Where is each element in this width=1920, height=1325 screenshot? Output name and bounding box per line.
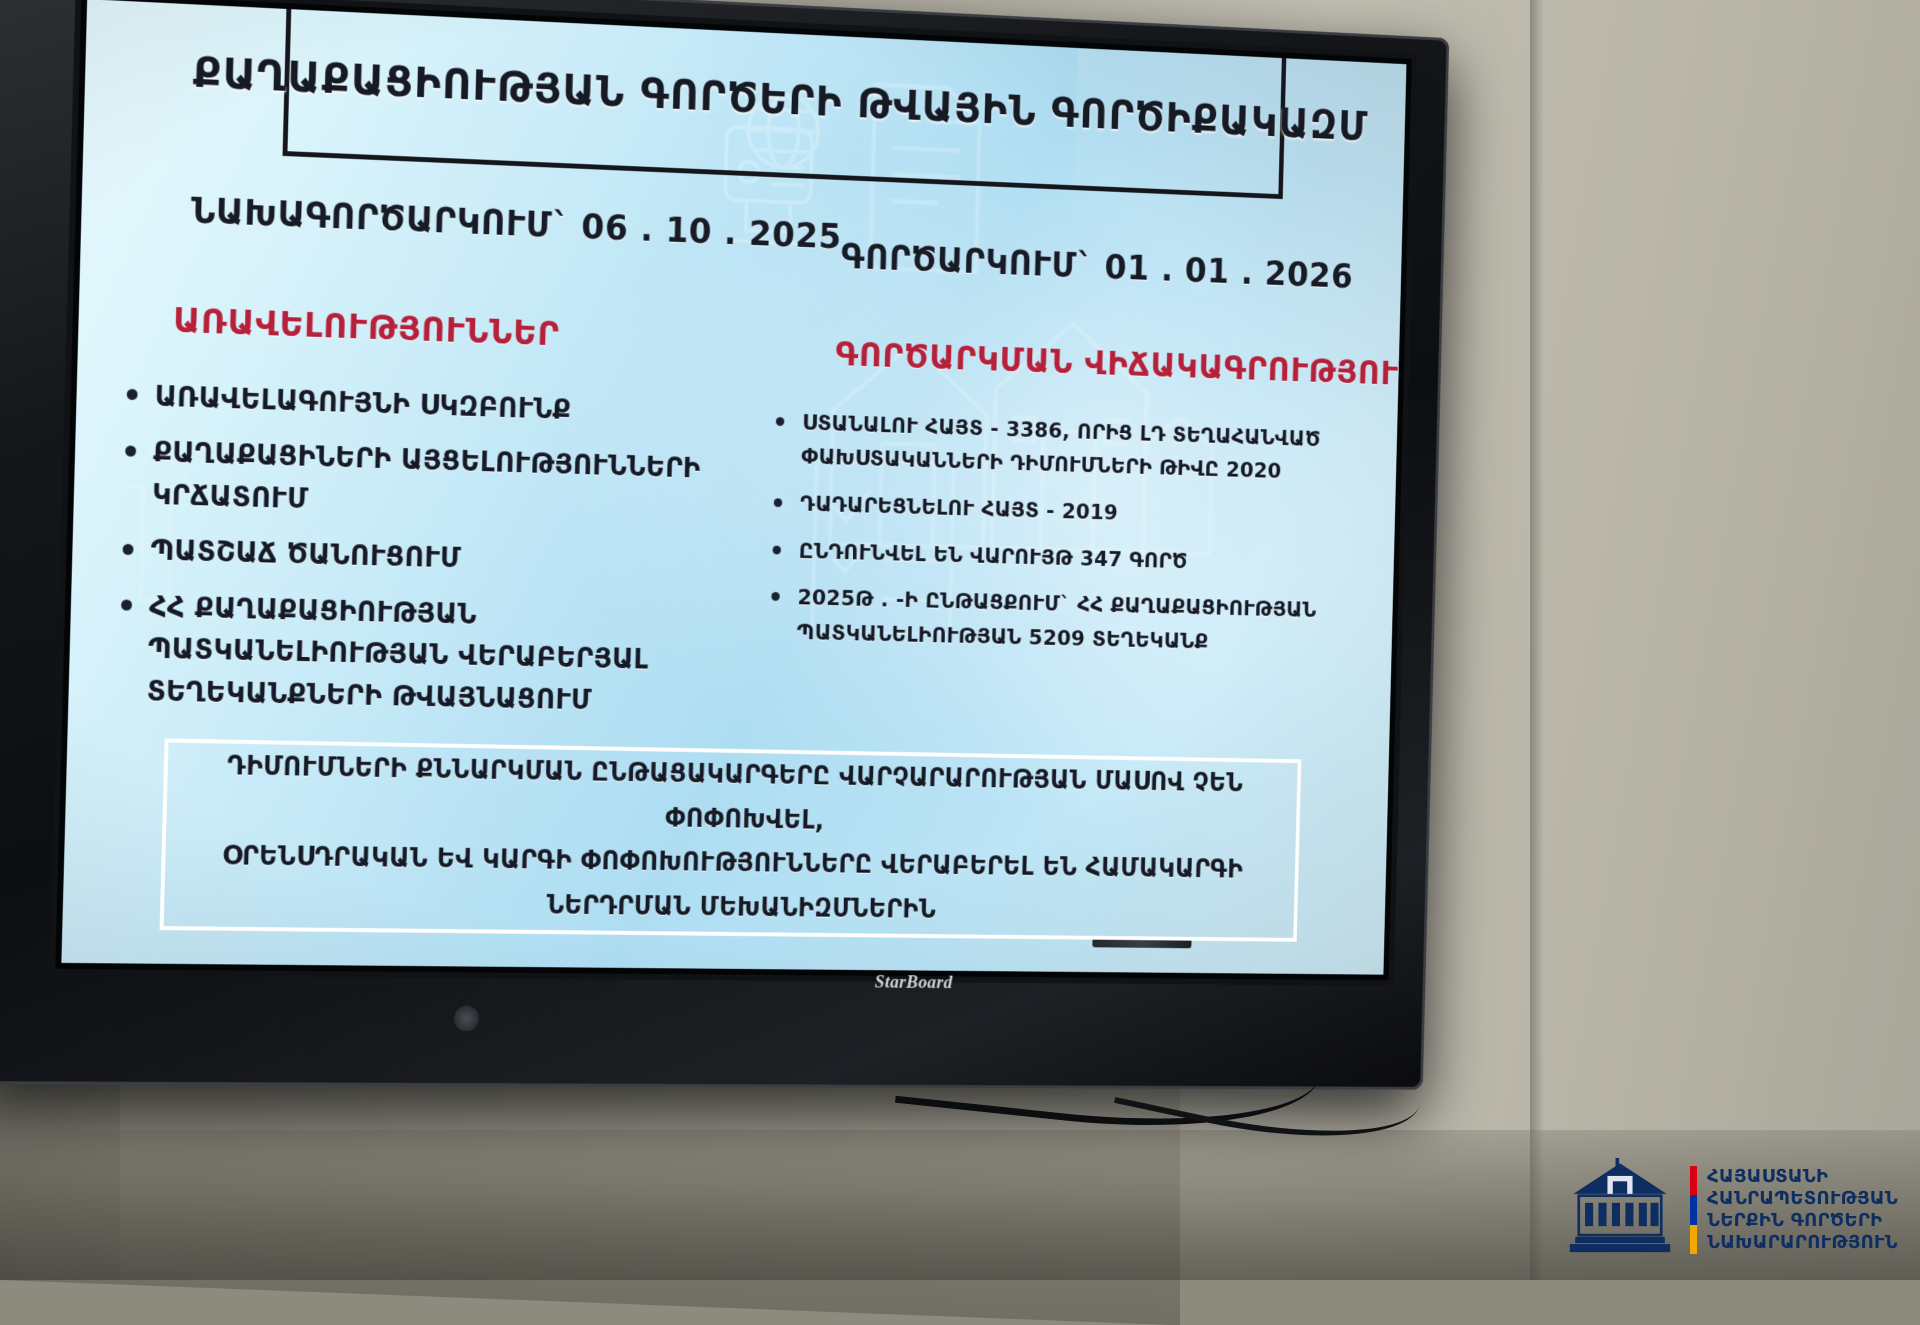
list-item: ԴԱԴԱՐԵՑՆԵԼՈՒ ՀԱՅՏ - 2019 (768, 487, 1370, 538)
content-columns: ԱՌԱՎԵԼՈՒԹՅՈՒՆՆԵՐ ԱՌԱՎԵԼԱԳՈՒՅՆԻ ՍԿԶԲՈՒՆՔ … (68, 298, 1400, 756)
column-advantages: ԱՌԱՎԵԼՈՒԹՅՈՒՆՆԵՐ ԱՌԱՎԵԼԱԳՈՒՅՆԻ ՍԿԶԲՈՒՆՔ … (68, 298, 732, 744)
date-full-launch-value: 01 . 01 . 2026 (1104, 249, 1354, 297)
date-pilot-launch-value: 06 . 10 . 2025 (581, 208, 842, 257)
column-statistics: ԳՈՐԾԱՐԿՄԱՆ ՎԻՃԱԿԱԳՐՈՒԹՅՈՒՆ ՍՏԱՆԱԼՈՒ ՀԱՅՏ… (721, 322, 1400, 756)
date-pilot-launch-label: ՆԱԽԱԳՈՐԾԱՐԿՈՒՄ` (190, 191, 569, 246)
ministry-name-line-4: ՆԱԽԱՐԱՐՈՒԹՅՈՒՆ (1707, 1232, 1898, 1254)
summary-banner-line-2: ՕՐԵՆՍԴՐԱԿԱՆ ԵՎ ԿԱՐԳԻ ՓՈՓՈԽՈՒԹՅՈՒՆՆԵՐԸ ՎԵ… (205, 835, 1257, 936)
advantages-list: ԱՌԱՎԵԼԱԳՈՒՅՆԻ ՍԿԶԲՈՒՆՔ ՔԱՂԱՔԱՑԻՆԵՐԻ ԱՅՑԵ… (113, 374, 730, 724)
date-full-launch: ԳՈՐԾԱՐԿՈՒՄ` 01 . 01 . 2026 (841, 238, 1354, 296)
summary-banner-line-1: ԴԻՄՈՒՄՆԵՐԻ ՔՆՆԱՐԿՄԱՆ ԸՆԹԱՑԱԿԱՐԳԵՐԸ ՎԱՐՉԱ… (208, 745, 1260, 850)
ministry-logo: ՀԱՅԱՍՏԱՆԻ ՀԱՆՐԱՊԵՏՈՒԹՅԱՆ ՆԵՐՔԻՆ ԳՈՐԾԵՐԻ … (1566, 1158, 1898, 1262)
summary-banner: ԴԻՄՈՒՄՆԵՐԻ ՔՆՆԱՐԿՄԱՆ ԸՆԹԱՑԱԿԱՐԳԵՐԸ ՎԱՐՉԱ… (160, 738, 1301, 942)
column-statistics-heading: ԳՈՐԾԱՐԿՄԱՆ ՎԻՃԱԿԱԳՐՈՒԹՅՈՒՆ (835, 335, 1374, 392)
column-advantages-heading: ԱՌԱՎԵԼՈՒԹՅՈՒՆՆԵՐ (173, 301, 732, 360)
ministry-building-icon (1566, 1158, 1674, 1262)
armenian-flag-bars (1690, 1166, 1697, 1254)
list-item: ՔԱՂԱՔԱՑԻՆԵՐԻ ԱՅՑԵԼՈՒԹՅՈՒՆՆԵՐԻ ԿՐՃԱՏՈՒՄ (118, 431, 728, 532)
date-row: ՆԱԽԱԳՈՐԾԱՐԿՈՒՄ` 06 . 10 . 2025 ԳՈՐԾԱՐԿՈՒ… (81, 187, 1402, 299)
list-item: ՊԱՏՇԱՃ ԾԱՆՈՒՑՈՒՄ (117, 529, 726, 587)
list-item: ԸՆԴՈՒՆՎԵԼ ԵՆ ՎԱՐՈՒՅԹ 347 ԳՈՐԾ (767, 534, 1369, 584)
ministry-logo-text: ՀԱՅԱՍՏԱՆԻ ՀԱՆՐԱՊԵՏՈՒԹՅԱՆ ՆԵՐՔԻՆ ԳՈՐԾԵՐԻ … (1690, 1166, 1898, 1254)
page-title: ՔԱՂԱՔԱՑԻՈՒԹՅԱՆ ԳՈՐԾԵՐԻ ԹՎԱՅԻՆ ԳՈՐԾԻՔԱԿԱԶ… (192, 48, 1369, 150)
wall-seam (1530, 0, 1544, 1280)
list-item: ՀՀ ՔԱՂԱՔԱՑԻՈՒԹՅԱՆ ՊԱՏԿԱՆԵԼԻՈՒԹՅԱՆ ՎԵՐԱԲԵ… (113, 585, 725, 724)
ministry-name-line-3: ՆԵՐՔԻՆ ԳՈՐԾԵՐԻ (1707, 1210, 1898, 1232)
list-item: ԱՌԱՎԵԼԱԳՈՒՅՆԻ ՍԿԶԲՈՒՆՔ (121, 374, 730, 436)
statistics-list: ՍՏԱՆԱԼՈՒ ՀԱՅՏ - 3386, ՈՐԻՑ ԼԴ ՏԵՂԱՀԱՆՎԱԾ… (765, 405, 1373, 663)
date-pilot-launch: ՆԱԽԱԳՈՐԾԱՐԿՈՒՄ` 06 . 10 . 2025 (190, 191, 842, 257)
ministry-name-line-2: ՀԱՆՐԱՊԵՏՈՒԹՅԱՆ (1707, 1188, 1898, 1210)
presentation-slide[interactable]: ՔԱՂԱՔԱՑԻՈՒԹՅԱՆ ԳՈՐԾԵՐԻ ԹՎԱՅԻՆ ԳՈՐԾԻՔԱԿԱԶ… (61, 0, 1406, 975)
date-full-launch-label: ԳՈՐԾԱՐԿՈՒՄ` (841, 238, 1094, 286)
ministry-name: ՀԱՅԱՍՏԱՆԻ ՀԱՆՐԱՊԵՏՈՒԹՅԱՆ ՆԵՐՔԻՆ ԳՈՐԾԵՐԻ … (1707, 1166, 1898, 1254)
list-item: 2025Թ . -Ի ԸՆԹԱՑՔՈՒՄ` ՀՀ ՔԱՂԱՔԱՑԻՈՒԹՅԱՆ … (765, 581, 1368, 664)
list-item: ՍՏԱՆԱԼՈՒ ՀԱՅՏ - 3386, ՈՐԻՑ ԼԴ ՏԵՂԱՀԱՆՎԱԾ… (769, 405, 1372, 492)
display-device: ՔԱՂԱՔԱՑԻՈՒԹՅԱՆ ԳՈՐԾԵՐԻ ԹՎԱՅԻՆ ԳՈՐԾԻՔԱԿԱԶ… (0, 0, 1449, 1090)
ministry-name-line-1: ՀԱՅԱՍՏԱՆԻ (1707, 1166, 1898, 1188)
